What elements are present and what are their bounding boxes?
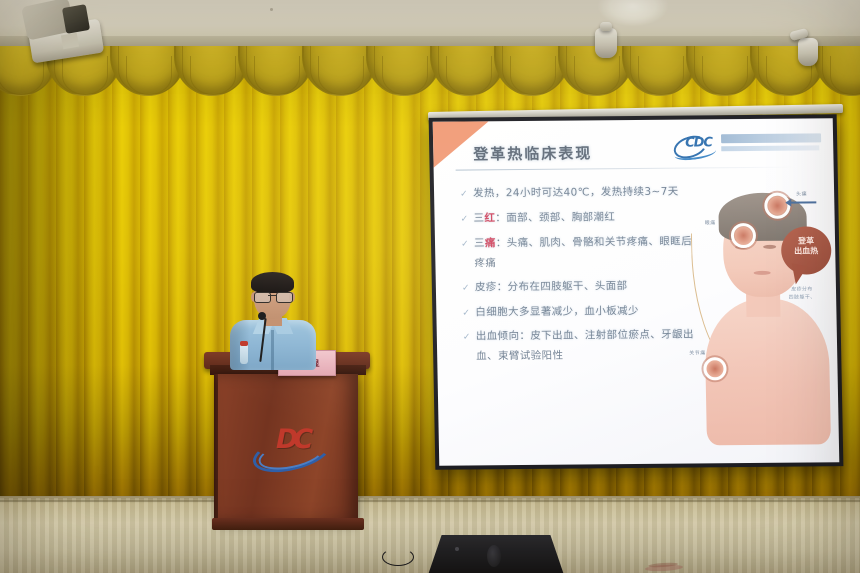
bullet-marker-icon: ✓ (460, 212, 473, 226)
bullet-marker-icon: ✓ (463, 331, 476, 345)
symptom-marker-joint (703, 357, 726, 380)
bullet-marker-icon: ✓ (460, 187, 473, 201)
bullet-prefix: 三 (474, 237, 485, 249)
list-item: ✓ 发热，24小时可达40℃，发热持续3~7天 (460, 185, 700, 201)
monitor-speaker-cone (487, 545, 501, 567)
diagram-callout-text: 登革出血热 (787, 236, 825, 256)
list-item: ✓ 出血倾向：皮下出血、注射部位瘀点、牙龈出 (463, 329, 703, 345)
ceiling-dot (270, 8, 273, 11)
water-bottle (240, 344, 248, 364)
audio-cable (382, 548, 414, 566)
diagram-label-eye: 眼痛 (705, 219, 716, 226)
list-item: ✓ 白细胞大多显著减少，血小板减少 (462, 304, 702, 320)
cdc-mark-icon: CDC (673, 135, 717, 155)
ceiling-projector (22, 2, 114, 64)
projector-panel (62, 4, 90, 34)
diagram-arrow (790, 201, 816, 203)
spotlight-mount (600, 22, 612, 31)
list-item: ✓ 三红：面部、颈部、胸部潮红 (460, 210, 700, 226)
list-item: ✓ 皮疹：分布在四肢躯干、头面部 (462, 279, 702, 295)
logo-letters: DC (276, 424, 308, 455)
glasses-bridge (268, 295, 277, 296)
bullet-text: 皮疹：分布在四肢躯干、头面部 (475, 280, 628, 293)
slide-title: 登革热临床表现 (473, 142, 592, 164)
bullet-text: ：面部、颈部、胸部潮红 (495, 211, 615, 224)
lectern-base (212, 518, 364, 530)
glasses-icon (254, 292, 271, 303)
diagram-note: 皮疹分布四肢躯干、 (774, 286, 830, 301)
bullet-marker-icon: ✓ (461, 237, 474, 251)
bullet-marker-icon: ✓ (462, 306, 475, 320)
presenter-hair (251, 272, 294, 293)
bullet-highlight: 痛 (485, 237, 496, 249)
valance-swag (814, 46, 860, 96)
conference-hall-photo: 登革热临床表现 CDC ✓ 发热，24小时可达40℃，发热持续3~7天 (0, 0, 860, 573)
lectern: DC 卓明显 (208, 352, 366, 532)
bullet-text: 白细胞大多显著减少，血小板减少 (475, 304, 639, 317)
curtain-left-shadow (0, 46, 120, 501)
dengue-symptom-diagram: 头痛 眼痛 关节痛 登革出血热 皮疹分布四肢躯干、 (688, 170, 839, 443)
diagram-label-headache: 头痛 (796, 191, 807, 198)
cdc-org-subtext (721, 145, 819, 151)
cdc-org-text (721, 133, 821, 143)
slide-bullet-list: ✓ 发热，24小时可达40℃，发热持续3~7天 ✓ 三红：面部、颈部、胸部潮红 … (460, 185, 704, 374)
diagram-label-joint: 关节痛 (689, 349, 706, 356)
symptom-marker-eye (731, 223, 756, 248)
microphone-head (258, 312, 266, 320)
bullet-text: 发热，24小时可达40℃，发热持续3~7天 (473, 186, 679, 200)
monitor-speaker-led (455, 547, 459, 551)
bullet-text: 出血倾向：皮下出血、注射部位瘀点、牙龈出 (476, 329, 694, 343)
slide-title-rule (456, 167, 796, 171)
bullet-continuation: 血、束臂试验阳性 (476, 347, 703, 364)
projection-screen[interactable]: 登革热临床表现 CDC ✓ 发热，24小时可达40℃，发热持续3~7天 (429, 114, 844, 469)
spotlight-icon-2 (798, 38, 818, 66)
cdc-logo-podium: DC (252, 422, 326, 468)
slide-surface: 登革热临床表现 CDC ✓ 发热，24小时可达40℃，发热持续3~7天 (433, 118, 840, 465)
list-item: ✓ 三痛：头痛、肌肉、骨骼和关节疼痛、眼眶后 (461, 235, 701, 251)
floor-curtain-edge (0, 500, 860, 502)
water-bottle-cap (240, 341, 248, 346)
presenter-shirt-placket (271, 330, 274, 370)
bullet-text: ：头痛、肌肉、骨骼和关节疼痛、眼眶后 (496, 235, 692, 249)
bullet-marker-icon: ✓ (462, 281, 475, 295)
bullet-prefix: 三 (473, 212, 484, 224)
diagram-callout-tail (788, 263, 807, 286)
cdc-logo: CDC (673, 132, 824, 159)
bullet-highlight: 红 (484, 212, 495, 224)
glasses-icon-right (276, 292, 293, 303)
bullet-continuation: 疼痛 (474, 253, 701, 270)
curtain-valance (0, 46, 860, 108)
spotlight-icon (595, 28, 617, 58)
floor-reflection (0, 498, 860, 573)
